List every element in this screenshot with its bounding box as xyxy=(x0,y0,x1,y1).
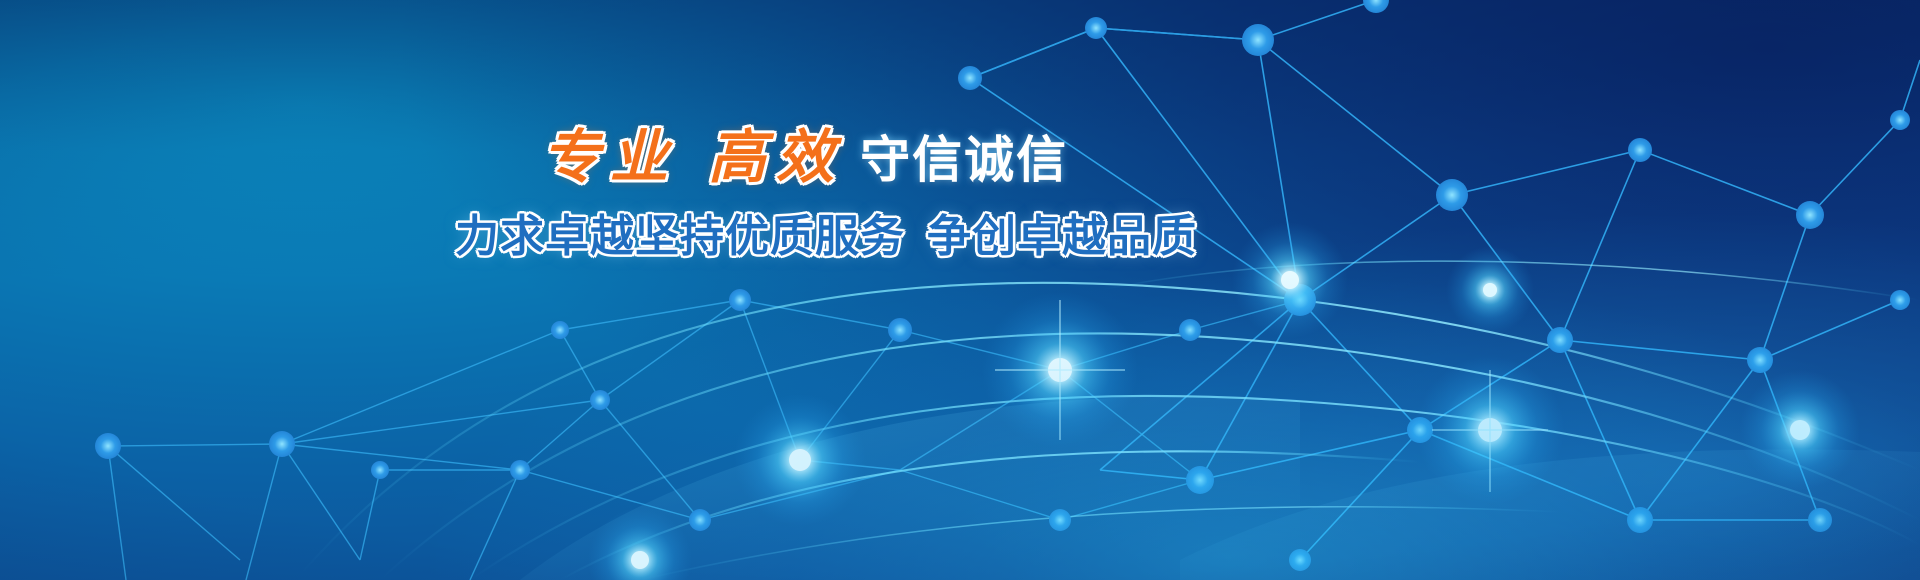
vignette-layer xyxy=(0,0,1920,580)
banner-text-block: 专业 高效守信诚信 力求卓越坚持优质服务争创卓越品质 xyxy=(455,128,1155,264)
headline-accent-text: 专业 高效 xyxy=(542,123,860,191)
hero-banner: 专业 高效守信诚信 力求卓越坚持优质服务争创卓越品质 xyxy=(0,0,1920,580)
banner-headline: 专业 高效守信诚信 xyxy=(455,128,1155,186)
banner-subtitle: 力求卓越坚持优质服务争创卓越品质 xyxy=(455,200,1155,264)
subtitle-part-2: 争创卓越品质 xyxy=(927,211,1197,262)
subtitle-part-1: 力求卓越坚持优质服务 xyxy=(455,211,905,262)
headline-plain-text: 守信诚信 xyxy=(860,131,1068,189)
